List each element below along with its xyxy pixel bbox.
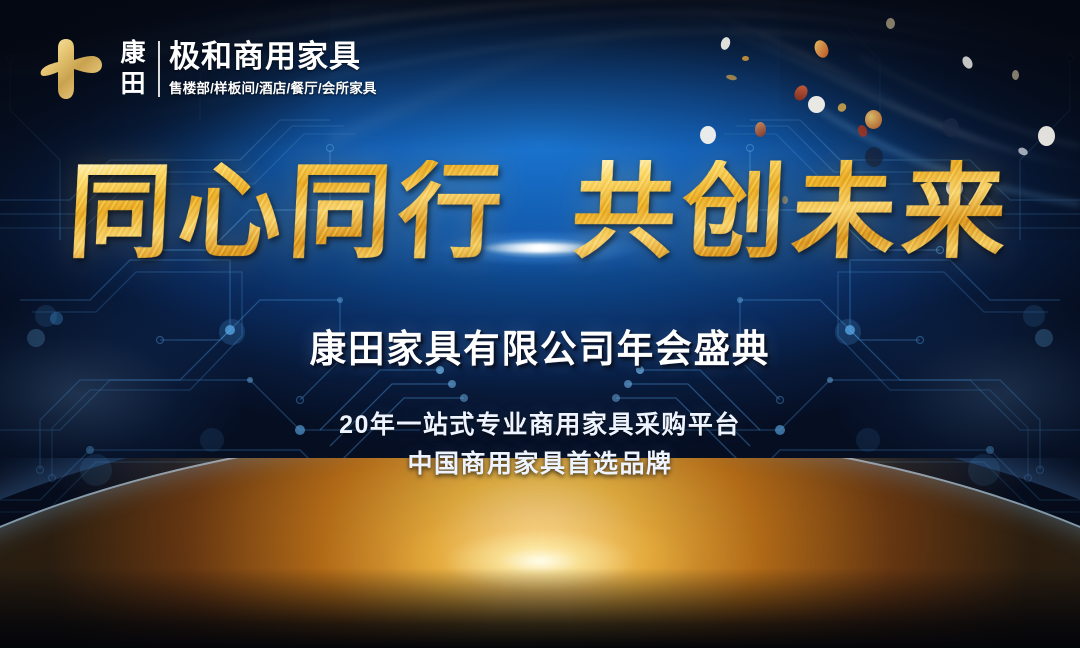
- logo-char-tian: 田: [120, 72, 145, 97]
- logo-divider: [158, 41, 160, 97]
- logo-brand-chars: 康 田: [112, 38, 154, 100]
- tagline-1: 20年一站式专业商用家具采购平台: [0, 406, 1080, 445]
- logo-brand-tagline: 售楼部/样板间/酒店/餐厅/会所家具: [169, 77, 377, 97]
- logo-char-kang: 康: [120, 41, 145, 66]
- poster-canvas: 康 田 极和商用家具 售楼部/样板间/酒店/餐厅/会所家具 同心同行 共创未来 …: [0, 0, 1080, 648]
- earth-horizon-sunrise: [0, 458, 1080, 648]
- gold-cross-emblem-icon: [40, 36, 106, 102]
- tagline-block: 20年一站式专业商用家具采购平台 中国商用家具首选品牌: [0, 406, 1080, 484]
- tagline-2: 中国商用家具首选品牌: [0, 445, 1080, 484]
- main-headline: 同心同行 共创未来: [0, 160, 1080, 264]
- headline-part-2: 共创未来: [569, 160, 1014, 264]
- company-logo[interactable]: 康 田 极和商用家具 售楼部/样板间/酒店/餐厅/会所家具: [40, 36, 377, 102]
- event-title: 康田家具有限公司年会盛典: [22, 318, 1059, 373]
- bottom-fade: [0, 568, 1080, 648]
- logo-text-block: 极和商用家具 售楼部/样板间/酒店/餐厅/会所家具: [169, 41, 377, 97]
- headline-part-1: 同心同行: [65, 160, 510, 264]
- logo-brand-name: 极和商用家具: [169, 41, 377, 74]
